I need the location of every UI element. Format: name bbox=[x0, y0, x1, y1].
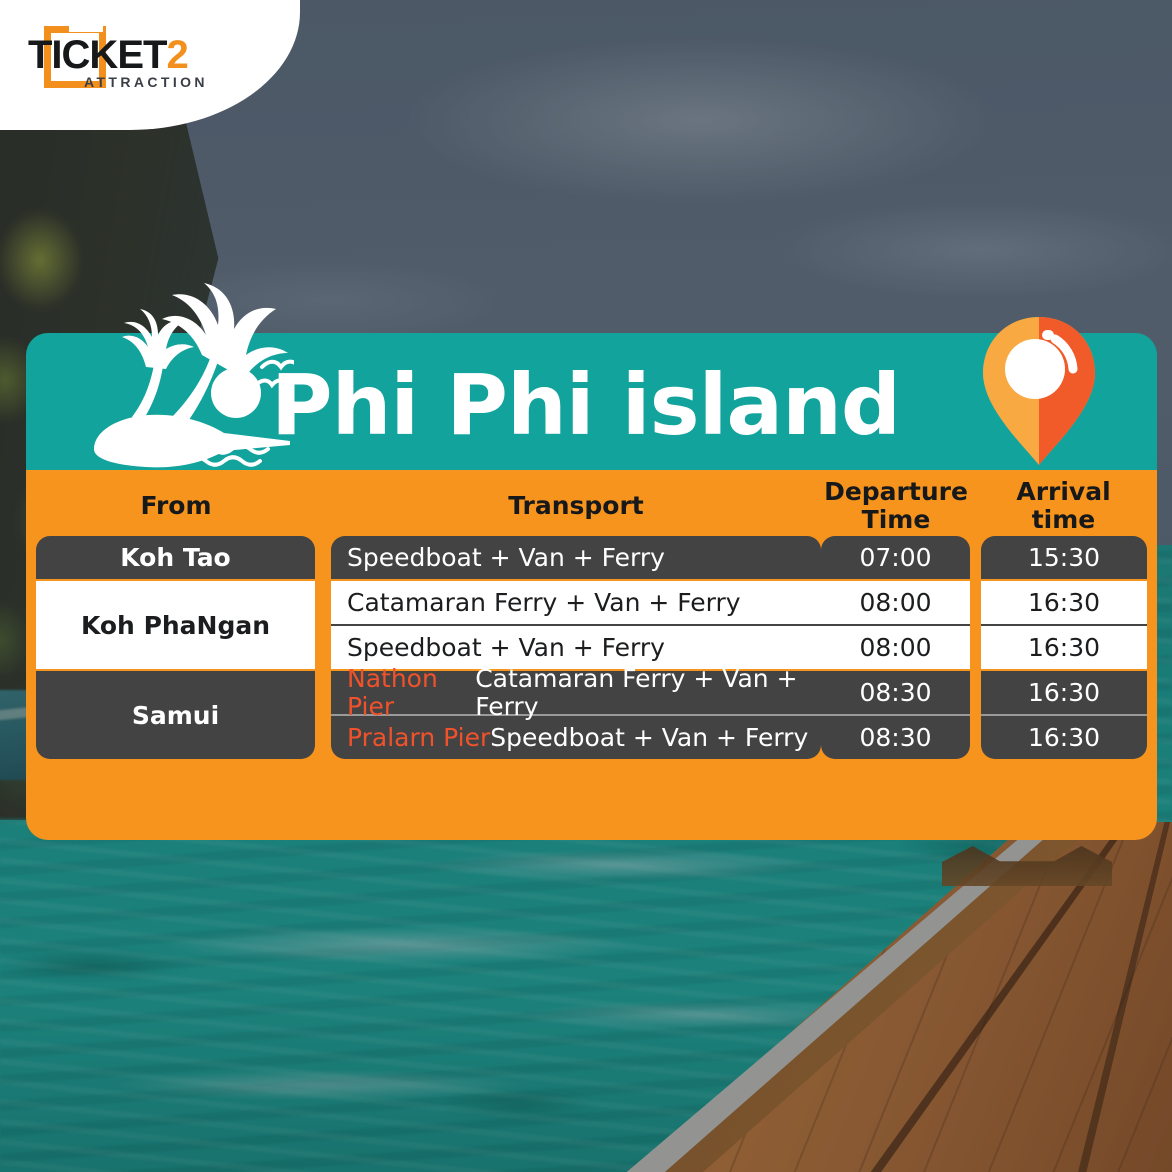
departure-time-cell[interactable]: 08:30 bbox=[821, 716, 970, 759]
from-cell[interactable]: Samui bbox=[36, 671, 315, 759]
brand-tagline: ATTRACTION bbox=[84, 74, 208, 90]
map-pin-icon bbox=[977, 315, 1101, 467]
departure-time-label: 08:30 bbox=[859, 724, 931, 752]
column-header-departure-line2: Time bbox=[862, 505, 931, 534]
departure-time-label: 08:00 bbox=[859, 634, 931, 662]
brand-logo[interactable]: TICKET2 ATTRACTION bbox=[28, 24, 208, 94]
from-cell-label: Koh Tao bbox=[120, 543, 231, 572]
column-header-arrival-line2: time bbox=[1032, 505, 1096, 534]
departure-time-label: 08:30 bbox=[859, 679, 931, 707]
arrival-time-cell[interactable]: 16:30 bbox=[981, 671, 1147, 714]
arrival-time-cell[interactable]: 16:30 bbox=[981, 581, 1147, 624]
transport-label: Catamaran Ferry + Van + Ferry bbox=[475, 665, 821, 721]
column-arrival: 15:3016:3016:3016:3016:30 bbox=[981, 536, 1147, 759]
card-body: From Transport Departure Time Arrival ti… bbox=[26, 470, 1157, 840]
transport-cell[interactable]: Pralarn Pier Speedboat + Van + Ferry bbox=[331, 716, 821, 759]
from-cell[interactable]: Koh PhaNgan bbox=[36, 581, 315, 669]
route-card: Phi Phi island From Transport Departure … bbox=[26, 333, 1157, 840]
palm-island-icon bbox=[84, 281, 294, 471]
from-cell-label: Koh PhaNgan bbox=[81, 611, 270, 640]
arrival-time-cell[interactable]: 15:30 bbox=[981, 536, 1147, 579]
arrival-time-label: 16:30 bbox=[1028, 589, 1100, 617]
arrival-time-label: 16:30 bbox=[1028, 724, 1100, 752]
arrival-time-cell[interactable]: 16:30 bbox=[981, 716, 1147, 759]
column-header-transport: Transport bbox=[331, 492, 821, 520]
column-transport: Speedboat + Van + FerryCatamaran Ferry +… bbox=[331, 536, 821, 759]
transport-cell[interactable]: Speedboat + Van + Ferry bbox=[331, 626, 821, 669]
brand-name-accent: 2 bbox=[166, 33, 187, 77]
column-header-from: From bbox=[36, 492, 316, 520]
transport-cell[interactable]: Speedboat + Van + Ferry bbox=[331, 536, 821, 579]
from-cell[interactable]: Koh Tao bbox=[36, 536, 315, 579]
transport-label: Speedboat + Van + Ferry bbox=[347, 544, 665, 572]
transport-label: Speedboat + Van + Ferry bbox=[490, 724, 808, 752]
column-header-arrival-line1: Arrival bbox=[1016, 477, 1110, 506]
column-header-arrival: Arrival time bbox=[981, 478, 1146, 534]
from-cell-label: Samui bbox=[132, 701, 219, 730]
departure-time-label: 08:00 bbox=[859, 589, 931, 617]
transport-label: Catamaran Ferry + Van + Ferry bbox=[347, 589, 741, 617]
column-from: Koh TaoKoh PhaNganSamui bbox=[36, 536, 315, 759]
departure-time-cell[interactable]: 08:00 bbox=[821, 581, 970, 624]
transport-label: Speedboat + Van + Ferry bbox=[347, 634, 665, 662]
pier-label: Pralarn Pier bbox=[347, 724, 490, 752]
brand-name: TICKET2 bbox=[28, 31, 208, 79]
arrival-time-label: 16:30 bbox=[1028, 679, 1100, 707]
departure-time-cell[interactable]: 07:00 bbox=[821, 536, 970, 579]
departure-time-label: 07:00 bbox=[859, 544, 931, 572]
arrival-time-cell[interactable]: 16:30 bbox=[981, 626, 1147, 669]
brand-name-main: TICKET bbox=[28, 33, 166, 77]
column-header-departure: Departure Time bbox=[821, 478, 971, 534]
departure-time-cell[interactable]: 08:30 bbox=[821, 671, 970, 714]
transport-cell[interactable]: Catamaran Ferry + Van + Ferry bbox=[331, 581, 821, 624]
column-header-departure-line1: Departure bbox=[824, 477, 968, 506]
column-departure: 07:0008:0008:0008:3008:30 bbox=[821, 536, 970, 759]
page-title: Phi Phi island bbox=[271, 357, 900, 453]
departure-time-cell[interactable]: 08:00 bbox=[821, 626, 970, 669]
arrival-time-label: 16:30 bbox=[1028, 634, 1100, 662]
pier-label: Nathon Pier bbox=[347, 665, 475, 721]
table-header-row: From Transport Departure Time Arrival ti… bbox=[26, 470, 1157, 536]
transport-cell[interactable]: Nathon Pier Catamaran Ferry + Van + Ferr… bbox=[331, 671, 821, 714]
arrival-time-label: 15:30 bbox=[1028, 544, 1100, 572]
